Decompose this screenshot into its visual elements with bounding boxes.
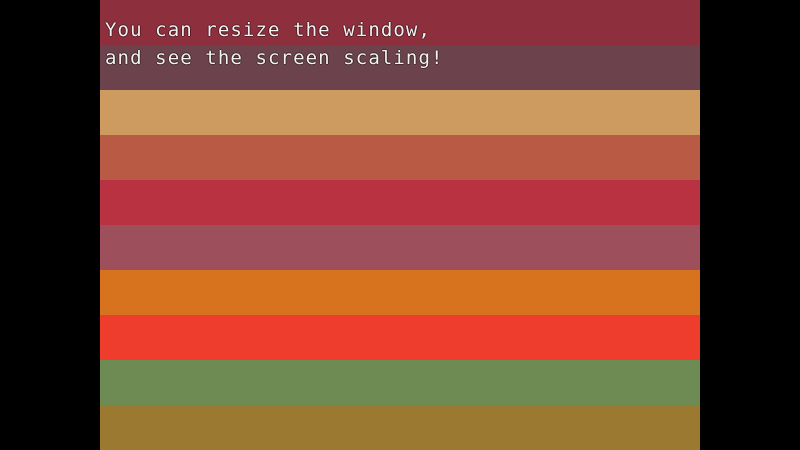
letterbox-left: [0, 0, 100, 450]
color-band-terracotta: [100, 135, 700, 180]
color-band-dark-crimson: [100, 0, 700, 45]
color-band-stack: [100, 0, 700, 450]
color-band-crimson-red: [100, 180, 700, 225]
letterbox-right: [700, 0, 800, 450]
app-root: You can resize the window, and see the s…: [0, 0, 800, 450]
color-band-dusty-rose: [100, 225, 700, 270]
color-band-bright-red: [100, 315, 700, 360]
color-band-bronze-gold: [100, 405, 700, 450]
color-band-orange: [100, 270, 700, 315]
color-band-muted-plum: [100, 45, 700, 90]
scaled-screen-viewport[interactable]: You can resize the window, and see the s…: [100, 0, 700, 450]
color-band-olive-green: [100, 360, 700, 405]
color-band-sandy-tan: [100, 90, 700, 135]
